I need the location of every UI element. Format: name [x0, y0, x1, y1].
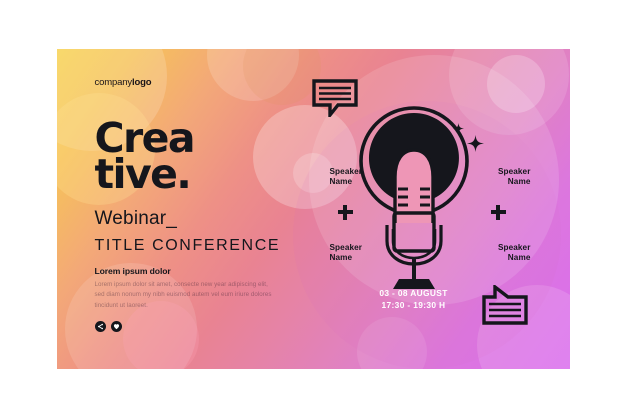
- speaker-name-3: Speaker Name: [330, 243, 363, 265]
- speaker-name-line-2: Name: [453, 253, 531, 264]
- plus-mark-icon: [338, 205, 353, 220]
- speaker-name-line-2: Name: [453, 177, 531, 188]
- body-text: Lorem ipsum dolor sit amet, consecte new…: [95, 280, 275, 312]
- bokeh-circle: [487, 55, 545, 113]
- speaker-name-1: Speaker Name: [330, 167, 363, 189]
- speaker-name-line-1: Speaker: [453, 167, 531, 178]
- heart-icon[interactable]: [111, 321, 122, 332]
- speaker-name-2: Speaker Name: [453, 167, 531, 189]
- speaker-name-line-1: Speaker: [330, 167, 363, 178]
- event-datetime: 03 - 08 AUGUST 17:30 - 19:30 H: [357, 287, 471, 311]
- webinar-banner: companylogo Crea tive. Webinar_ TITLE CO…: [57, 49, 570, 369]
- speaker-name-line-1: Speaker: [330, 243, 363, 254]
- speaker-name-line-2: Name: [330, 253, 363, 264]
- headline-line-2: tive.: [95, 156, 305, 192]
- bokeh-circle: [357, 317, 427, 369]
- company-logo: companylogo: [95, 77, 305, 88]
- logo-text-regular: company: [95, 77, 133, 88]
- share-icon[interactable]: [95, 321, 106, 332]
- speaker-name-line-2: Name: [330, 177, 363, 188]
- webinar-label: Webinar_: [95, 208, 305, 230]
- lead-text: Lorem ipsum dolor: [95, 266, 305, 276]
- speaker-name-line-1: Speaker: [453, 243, 531, 254]
- event-times: 17:30 - 19:30 H: [357, 299, 471, 311]
- page-title: Crea tive.: [95, 120, 305, 192]
- social-links: [95, 321, 305, 332]
- banner-left-column: companylogo Crea tive. Webinar_ TITLE CO…: [95, 77, 305, 332]
- plus-mark-icon: [491, 205, 506, 220]
- event-dates: 03 - 08 AUGUST: [357, 287, 471, 299]
- speaker-name-4: Speaker Name: [453, 243, 531, 265]
- logo-text-bold: logo: [132, 77, 151, 88]
- conference-title: TITLE CONFERENCE: [95, 237, 305, 255]
- speech-bubble-icon: [482, 285, 528, 330]
